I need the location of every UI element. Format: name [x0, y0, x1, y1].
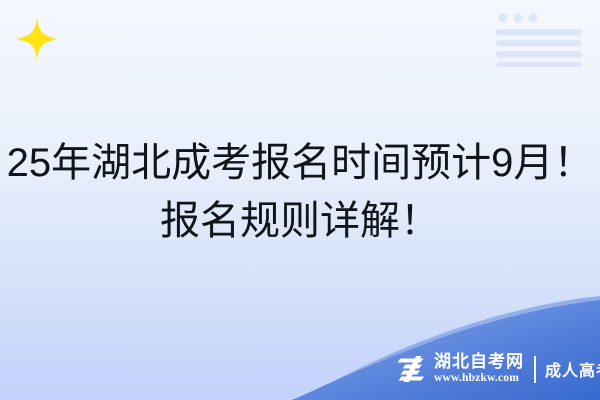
page-title: 25年湖北成考报名时间预计9月！ 报名规则详解！	[0, 134, 600, 250]
logo-subtitle: 成人高考	[545, 357, 600, 381]
promo-banner: 25年湖北成考报名时间预计9月！ 报名规则详解！ 湖北自考网 www.hbzkw…	[0, 0, 600, 400]
headline-line-1: 25年湖北成考报名时间预计9月！	[0, 134, 600, 192]
hbzkw-z-logo-icon	[396, 353, 428, 385]
sparkle-star-icon	[14, 16, 60, 62]
logo-divider	[534, 356, 536, 383]
document-lines-icon	[494, 11, 584, 67]
logo-text-block: 湖北自考网 www.hbzkw.com	[434, 353, 524, 385]
site-logo[interactable]: 湖北自考网 www.hbzkw.com 成人高考	[396, 350, 592, 388]
logo-site-url: www.hbzkw.com	[434, 373, 524, 385]
headline-line-2: 报名规则详解！	[0, 192, 600, 250]
logo-site-name: 湖北自考网	[434, 353, 524, 370]
